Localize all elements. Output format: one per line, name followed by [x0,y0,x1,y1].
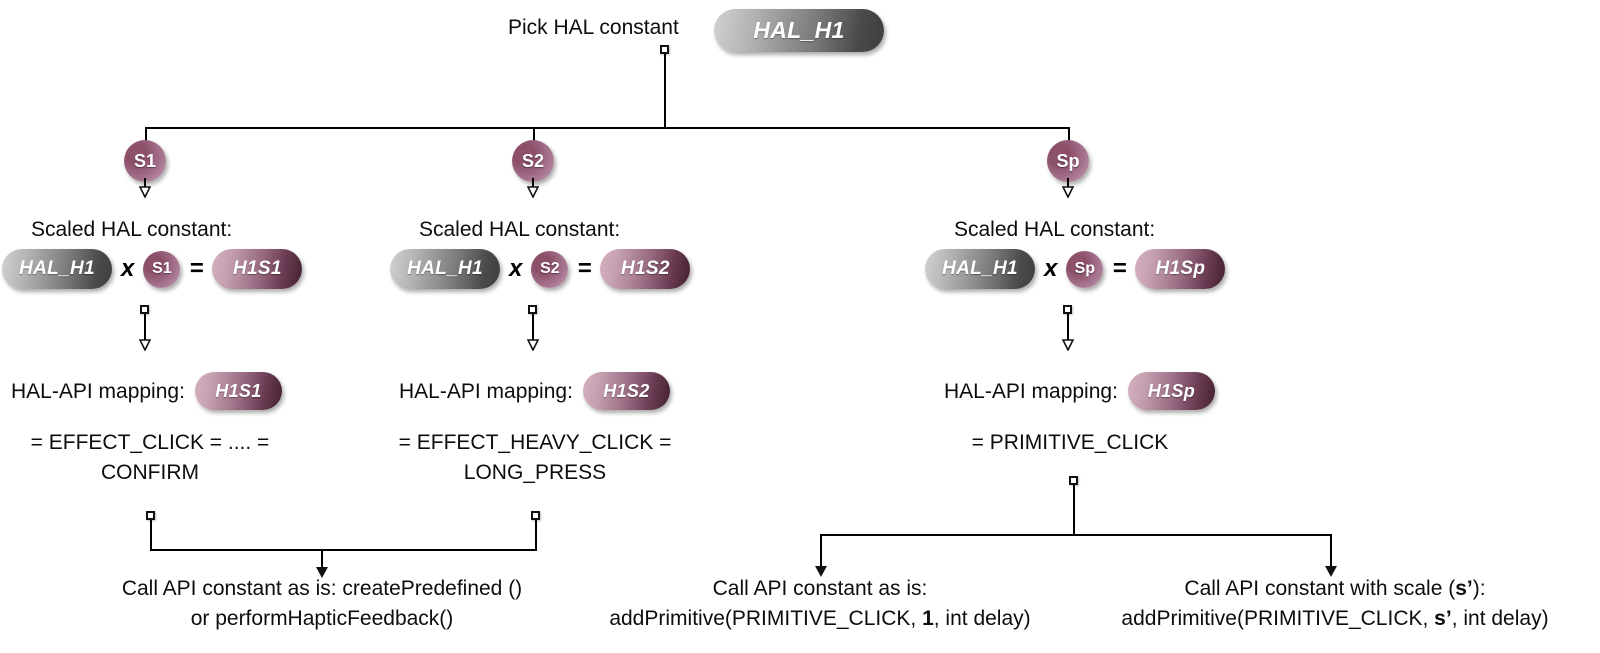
outcome-3-scale-symbol-title: s’ [1455,577,1473,600]
connector-merge-right-vert [535,520,537,550]
result-pill-sp[interactable]: H1Sp [1135,249,1225,289]
connector-split-bottom-bar [820,534,1332,536]
junction-node-root [660,45,669,54]
connector-merge-left-vert [150,520,152,550]
outcome-1-line1: Call API constant as is: createPredefine… [62,574,582,604]
outcome-2-line2-post: , int delay) [934,607,1031,630]
mapping-value-s1-line2: CONFIRM [10,458,290,488]
result-pill-s1[interactable]: H1S1 [212,249,302,289]
operand-scale-circle-s2[interactable]: S2 [531,251,568,288]
junction-node-merge-right [531,511,540,520]
outcome-block-3: Call API constant with scale (s’): addPr… [1080,574,1590,634]
pick-hal-constant-label: Pick HAL constant [508,14,679,41]
arrowhead-mapping-sp [1062,339,1074,351]
junction-node-split-bottom [1069,476,1078,485]
arrowhead-mapping-s2 [527,339,539,351]
outcome-3-line2: addPrimitive(PRIMITIVE_CLICK, s’, int de… [1080,604,1590,634]
outcome-3-line1-post: ): [1473,577,1486,600]
arrowhead-mapping-s1 [139,339,151,351]
operand-scale-circle-s1[interactable]: S1 [143,251,180,288]
outcome-3-line1: Call API constant with scale (s’): [1080,574,1590,604]
connector-split-bottom-left-leg [820,534,822,570]
arrowhead-s2 [527,186,539,198]
outcome-1-line2: or performHapticFeedback() [62,604,582,634]
multiply-operator-sp: x [1035,255,1066,283]
outcome-2-line2-pre: addPrimitive(PRIMITIVE_CLICK, [609,607,922,630]
junction-node-scaled-sp [1063,305,1072,314]
connector-scaled-mapping-s1 [144,314,146,342]
mapping-label-s2: HAL-API mapping: [399,378,573,405]
mapping-pill-s2[interactable]: H1S2 [583,372,670,410]
mapping-value-s2-line1: = EFFECT_HEAVY_CLICK = [390,428,680,458]
mapping-row-sp: HAL-API mapping: H1Sp [944,372,1215,410]
operand-hal-pill-sp[interactable]: HAL_H1 [925,249,1035,289]
connector-root-vertical [664,54,666,128]
mapping-row-s2: HAL-API mapping: H1S2 [399,372,670,410]
connector-split-bottom-right-leg [1330,534,1332,570]
connector-split-bar-top [145,127,1070,129]
multiply-operator-s1: x [112,255,143,283]
outcome-3-line1-pre: Call API constant with scale ( [1184,577,1455,600]
outcome-block-1: Call API constant as is: createPredefine… [62,574,582,634]
connector-scaled-mapping-s2 [532,314,534,342]
connector-scaled-mapping-sp [1067,314,1069,342]
mapping-value-s2-line2: LONG_PRESS [390,458,680,488]
hal-constant-pill-root[interactable]: HAL_H1 [714,9,884,52]
connector-split-bottom-vert [1073,485,1075,535]
outcome-2-line1: Call API constant as is: [565,574,1075,604]
mapping-pill-s1[interactable]: H1S1 [195,372,282,410]
outcome-3-line2-pre: addPrimitive(PRIMITIVE_CLICK, [1121,607,1434,630]
mapping-value-s1: = EFFECT_CLICK = .... = CONFIRM [10,428,290,488]
scale-circle-s2[interactable]: S2 [512,140,554,182]
equals-operator-s2: = [568,255,600,283]
outcome-2-scale-value: 1 [922,607,934,630]
equals-operator-s1: = [180,255,212,283]
multiply-operator-s2: x [500,255,531,283]
operand-scale-circle-sp[interactable]: Sp [1066,251,1103,288]
mapping-label-s1: HAL-API mapping: [11,378,185,405]
mapping-row-s1: HAL-API mapping: H1S1 [11,372,282,410]
outcome-3-line2-post: , int delay) [1452,607,1549,630]
mapping-value-sp-line1: = PRIMITIVE_CLICK [930,428,1210,458]
mapping-pill-sp[interactable]: H1Sp [1128,372,1215,410]
mapping-value-sp: = PRIMITIVE_CLICK [930,428,1210,458]
scale-circle-s1[interactable]: S1 [124,140,166,182]
operand-hal-pill-s1[interactable]: HAL_H1 [2,249,112,289]
scaled-heading-s1: Scaled HAL constant: [31,216,232,243]
operand-hal-pill-s2[interactable]: HAL_H1 [390,249,500,289]
mapping-value-s1-line1: = EFFECT_CLICK = .... = [10,428,290,458]
arrowhead-sp [1062,186,1074,198]
equals-operator-sp: = [1103,255,1135,283]
outcome-2-line2: addPrimitive(PRIMITIVE_CLICK, 1, int del… [565,604,1075,634]
connector-merge-bar [150,549,537,551]
junction-node-scaled-s2 [528,305,537,314]
mapping-label-sp: HAL-API mapping: [944,378,1118,405]
outcome-3-scale-symbol: s’ [1434,607,1452,630]
scale-circle-sp[interactable]: Sp [1047,140,1089,182]
junction-node-merge-left [146,511,155,520]
result-pill-s2[interactable]: H1S2 [600,249,690,289]
equation-row-s1: HAL_H1 x S1 = H1S1 [2,249,302,289]
outcome-block-2: Call API constant as is: addPrimitive(PR… [565,574,1075,634]
scaled-heading-sp: Scaled HAL constant: [954,216,1155,243]
arrowhead-s1 [139,186,151,198]
equation-row-s2: HAL_H1 x S2 = H1S2 [390,249,690,289]
junction-node-scaled-s1 [140,305,149,314]
mapping-value-s2: = EFFECT_HEAVY_CLICK = LONG_PRESS [390,428,680,488]
scaled-heading-s2: Scaled HAL constant: [419,216,620,243]
equation-row-sp: HAL_H1 x Sp = H1Sp [925,249,1225,289]
